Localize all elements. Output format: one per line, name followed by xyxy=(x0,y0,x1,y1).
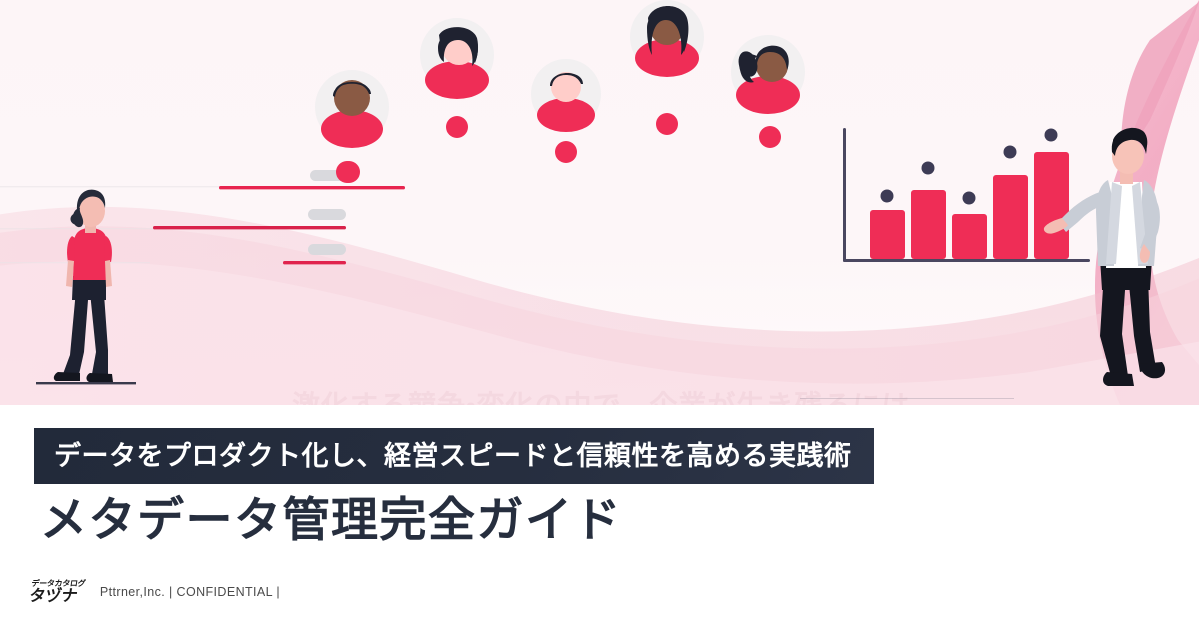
chart-y-axis xyxy=(843,128,846,262)
avatar-2-dot xyxy=(446,116,468,138)
chart-x-axis xyxy=(843,259,1090,262)
hero-illustration-svg xyxy=(0,0,1199,405)
subtitle-banner: データをプロダクト化し、経営スピードと信頼性を高める実践術 xyxy=(34,428,874,484)
avatar-1-dot xyxy=(336,161,358,183)
logo-wordmark: タヅナ xyxy=(28,589,84,605)
avatar-3-dot xyxy=(555,141,577,163)
avatar-5-dot xyxy=(759,126,781,148)
footer-confidential-text: Pttrner,Inc. | CONFIDENTIAL | xyxy=(100,585,280,601)
logo-tagline: データカタログ xyxy=(31,580,86,588)
chart-dot-1 xyxy=(881,190,894,203)
footer: データカタログ タヅナ Pttrner,Inc. | CONFIDENTIAL … xyxy=(30,580,280,605)
tazuna-logo: データカタログ タヅナ xyxy=(28,580,86,605)
chart-dot-5 xyxy=(1045,129,1058,142)
subtitle-text: データをプロダクト化し、経営スピードと信頼性を高める実践術 xyxy=(54,443,852,470)
chart-bar-1 xyxy=(870,210,905,259)
chart-bar-4 xyxy=(993,175,1028,259)
chart-dot-3 xyxy=(963,192,976,205)
slide-root: 激化する競争・変化の中で、企業が生き残るには データをプロダクト化し、経営スピー… xyxy=(0,0,1199,630)
chart-bar-3 xyxy=(952,214,987,259)
page-title: メタデータ管理完全ガイド xyxy=(40,492,622,547)
ghost-divider-rule xyxy=(800,398,1014,399)
avatar-4-dot xyxy=(656,113,678,135)
chart-dot-2 xyxy=(922,162,935,175)
chart-bar-2 xyxy=(911,190,946,259)
chart-dot-4 xyxy=(1004,146,1017,159)
chart-bar-5 xyxy=(1034,152,1069,259)
ghost-headline-text: 激化する競争・変化の中で、企業が生き残るには xyxy=(292,384,910,405)
hero-illustration: 激化する競争・変化の中で、企業が生き残るには xyxy=(0,0,1199,405)
